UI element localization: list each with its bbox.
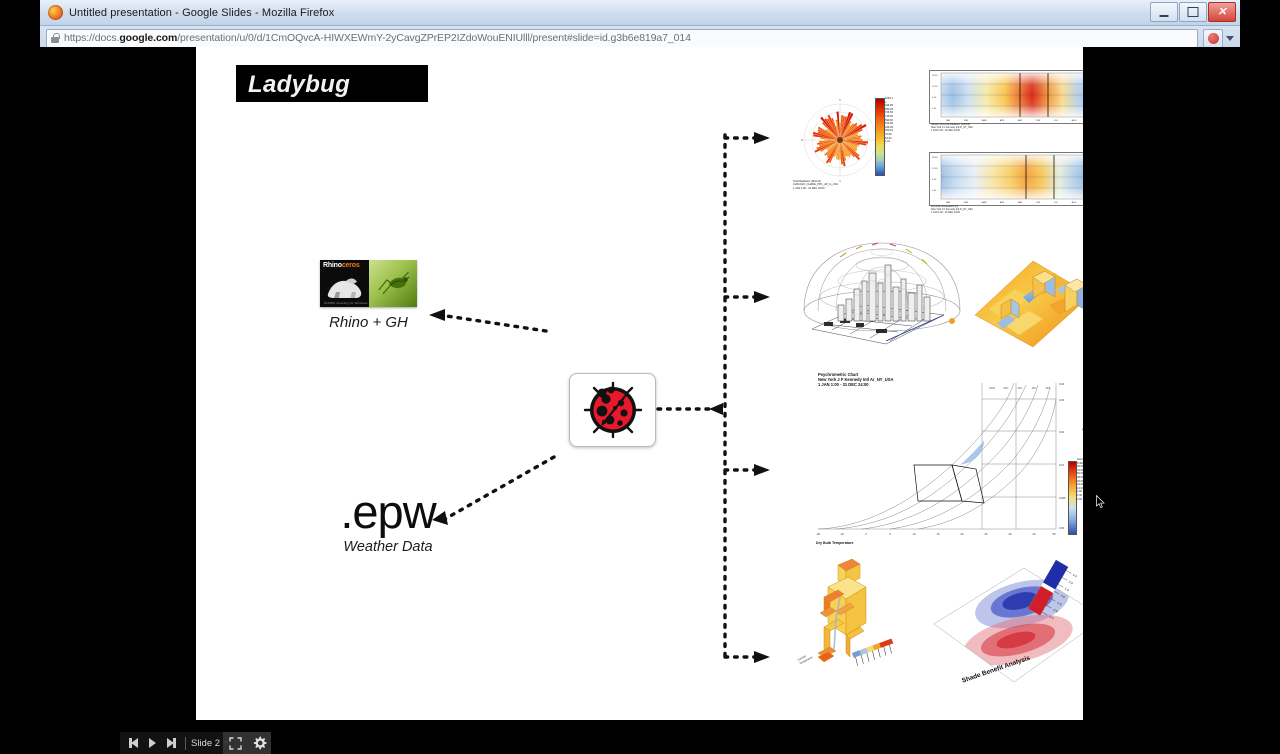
- arrowhead-branch-4: [754, 651, 770, 663]
- psychrometric-title: Psychrometric Chart New York J F Kennedy…: [818, 372, 893, 388]
- psychrometric-ylabel: Humidity Ratio: [1082, 415, 1083, 440]
- shade-benefit-svg: 3.02.01.0 0.0-1.0-2.0 -3.0: [926, 552, 1083, 702]
- svg-text:JUN: JUN: [1036, 202, 1041, 204]
- figure-sky-dome-city: [794, 237, 969, 352]
- figure-psychrometric-chart: Psychrometric Chart New York J F Kennedy…: [806, 369, 1083, 544]
- arrowhead-branch-1: [754, 132, 770, 144]
- close-button[interactable]: ✕: [1208, 2, 1236, 22]
- svg-text:6.00: 6.00: [932, 179, 937, 181]
- heatmap-1-svg: 18.0012.00 6.000.00 JANFEBMAR APRMAYJUN …: [930, 71, 1083, 123]
- comfort-mannequin-svg: ComfortTemperature: [794, 557, 919, 697]
- svg-text:MAR: MAR: [982, 119, 987, 122]
- svg-text:1.0: 1.0: [1064, 587, 1070, 593]
- previous-slide-icon[interactable]: [125, 733, 142, 753]
- toolbar-divider: [185, 737, 186, 750]
- screen: Untitled presentation - Google Slides - …: [0, 0, 1280, 720]
- svg-text:3.0: 3.0: [1072, 573, 1078, 579]
- figure-shade-benefit: 3.02.01.0 0.0-1.0-2.0 -3.0 Shade Benefit…: [926, 552, 1083, 702]
- svg-text:FEB: FEB: [964, 202, 969, 204]
- play-icon[interactable]: [144, 733, 161, 753]
- svg-text:JUL: JUL: [1054, 202, 1059, 204]
- arrowhead-ladybug: [709, 403, 723, 415]
- svg-text:JUN: JUN: [1036, 120, 1041, 122]
- svg-text:0.04: 0.04: [1059, 382, 1065, 386]
- firefox-icon: [48, 5, 63, 20]
- close-icon: ✕: [1217, 7, 1226, 17]
- svg-text:0.00: 0.00: [932, 190, 937, 192]
- next-slide-icon[interactable]: [163, 733, 180, 753]
- grasshopper-illustration: [369, 260, 418, 307]
- figure-annual-heatmap-2: 18.0012.00 6.000.00 JANFEBMAR APRMAYJUN …: [929, 152, 1083, 206]
- psychrometric-legend: [1068, 461, 1077, 535]
- svg-text:APR: APR: [1000, 201, 1005, 204]
- url-text: https://docs.google.com/presentation/u/0…: [64, 32, 691, 44]
- svg-text:40: 40: [1033, 532, 1036, 536]
- svg-text:W: W: [801, 140, 804, 142]
- heatmap-2-caption: Dry Bulb Temperature (C) New York J F Ke…: [931, 205, 973, 214]
- svg-text:20%: 20%: [1046, 387, 1052, 390]
- svg-text:JAN: JAN: [946, 201, 951, 204]
- figure-radial-rose-chart: NE SW 1081.1 +949.99830.29706.59 745.565…: [792, 90, 888, 186]
- svg-text:30: 30: [1009, 532, 1012, 536]
- figure-comfort-mannequin: ComfortTemperature: [794, 557, 919, 697]
- svg-text:MAR: MAR: [982, 201, 987, 204]
- slide-canvas[interactable]: Ladybug Rhinoceros: [196, 47, 1083, 720]
- radiation-mesh-svg: [971, 243, 1083, 355]
- svg-text:0.01: 0.01: [1059, 463, 1065, 467]
- svg-text:MAY: MAY: [1018, 201, 1023, 204]
- rhino-gh-images: Rhinoceros NURBS modeling for Windows: [320, 260, 417, 307]
- input-epw: .epw Weather Data: [308, 487, 468, 555]
- rhino-illustration: [326, 272, 364, 300]
- arrowhead-branch-2: [754, 291, 770, 303]
- svg-text:-20: -20: [816, 532, 820, 536]
- svg-text:MAY: MAY: [1018, 119, 1023, 122]
- adblock-icon[interactable]: [1203, 29, 1223, 48]
- svg-text:12.00: 12.00: [932, 168, 938, 170]
- figure-radiation-mesh: [971, 243, 1083, 355]
- chevron-down-icon[interactable]: [1226, 36, 1234, 41]
- heatmap-2-svg: 18.0012.00 6.000.00 JANFEBMAR APRMAYJUN …: [930, 153, 1083, 205]
- svg-text:80%: 80%: [1004, 387, 1010, 390]
- svg-text:-10: -10: [840, 532, 844, 536]
- svg-text:N: N: [839, 100, 841, 102]
- input-rhino-gh-label: Rhino + GH: [320, 314, 417, 331]
- svg-text:18.00: 18.00: [932, 157, 938, 159]
- url-input[interactable]: https://docs.google.com/presentation/u/0…: [46, 29, 1198, 48]
- window-title: Untitled presentation - Google Slides - …: [69, 7, 334, 19]
- svg-text:25: 25: [985, 532, 988, 536]
- ladybug-node: [569, 373, 656, 447]
- minimize-button[interactable]: [1150, 2, 1178, 22]
- psychrometric-xlabel: Dry Bulb Temperature: [816, 541, 853, 545]
- padlock-icon: [51, 33, 59, 43]
- presentation-toolbar-right: [223, 732, 271, 754]
- svg-text:6.00: 6.00: [932, 97, 937, 99]
- svg-text:20: 20: [961, 532, 964, 536]
- rose-chart-caption: Total Radiation (Wh/m2) CHICAGO_OHARE_IN…: [793, 180, 863, 190]
- window-titlebar[interactable]: Untitled presentation - Google Slides - …: [40, 0, 1240, 26]
- heatmap-1-caption: Global Horizontal Radiation (Wh/m2) New …: [931, 123, 973, 132]
- rhinoceros-logo: Rhinoceros NURBS modeling for Windows: [320, 260, 369, 307]
- maximize-button[interactable]: [1179, 2, 1207, 22]
- svg-text:0: 0: [865, 532, 867, 536]
- fullscreen-icon[interactable]: [228, 736, 243, 751]
- slide-number-label: Slide 2: [191, 738, 220, 749]
- grasshopper-logo: [369, 260, 418, 307]
- arrowhead-rhino: [429, 309, 445, 321]
- ladybug-icon: [580, 379, 646, 441]
- svg-text:JUL: JUL: [1054, 120, 1059, 122]
- svg-text:5: 5: [889, 532, 891, 536]
- svg-text:100%: 100%: [989, 387, 996, 390]
- radial-rose-svg: NE SW: [792, 90, 888, 186]
- svg-text:18.00: 18.00: [932, 75, 938, 77]
- svg-text:0.00: 0.00: [1059, 526, 1065, 530]
- page-title: Ladybug: [248, 71, 350, 99]
- svg-text:FEB: FEB: [964, 120, 969, 122]
- svg-text:12.00: 12.00: [932, 86, 938, 88]
- rhino-logo-text: Rhinoceros: [323, 262, 360, 270]
- svg-text:AUG: AUG: [1072, 201, 1077, 204]
- svg-text:0.005: 0.005: [1059, 496, 1066, 500]
- epw-description-label: Weather Data: [308, 539, 468, 555]
- psychrometric-svg: -20-100 51015 202530 4050 0.040.03 0.020…: [806, 369, 1083, 544]
- rhino-logo-subtext: NURBS modeling for Windows: [324, 301, 367, 305]
- input-rhino-gh: Rhinoceros NURBS modeling for Windows: [320, 260, 417, 331]
- svg-text:50: 50: [1053, 532, 1056, 536]
- mouse-pointer-icon: [1096, 495, 1105, 509]
- toolbar-actions: [1203, 29, 1234, 48]
- svg-text:0.00: 0.00: [932, 108, 937, 110]
- svg-text:60%: 60%: [1018, 387, 1024, 390]
- window-controls: ✕: [1150, 2, 1236, 22]
- sky-dome-svg: [794, 237, 969, 352]
- arrowhead-branch-3: [754, 464, 770, 476]
- presentation-stage: Ladybug Rhinoceros: [40, 47, 1240, 720]
- svg-text:AUG: AUG: [1072, 119, 1077, 122]
- gear-icon[interactable]: [252, 736, 267, 751]
- svg-text:2.0: 2.0: [1068, 580, 1074, 586]
- svg-text:10: 10: [913, 532, 916, 536]
- arrow-rhino-to-ladybug: [440, 315, 546, 331]
- rose-legend-strip: [875, 98, 885, 176]
- figure-annual-heatmap-1: 18.0012.00 6.000.00 JANFEBMAR APRMAYJUN …: [929, 70, 1083, 124]
- svg-text:15: 15: [937, 532, 940, 536]
- svg-text:0.02: 0.02: [1059, 430, 1065, 434]
- svg-text:JAN: JAN: [946, 119, 951, 122]
- firefox-window: Untitled presentation - Google Slides - …: [40, 0, 1240, 720]
- rose-legend-ticks: 1081.1 +949.99830.29706.59 745.56590.605…: [885, 97, 893, 144]
- psychrometric-legend-ticks: Hours 8,400+92.0076.0060.00 48.0032.0024…: [1077, 458, 1083, 501]
- svg-text:0.03: 0.03: [1059, 398, 1065, 402]
- epw-extension-label: .epw: [308, 487, 468, 537]
- svg-text:APR: APR: [1000, 119, 1005, 122]
